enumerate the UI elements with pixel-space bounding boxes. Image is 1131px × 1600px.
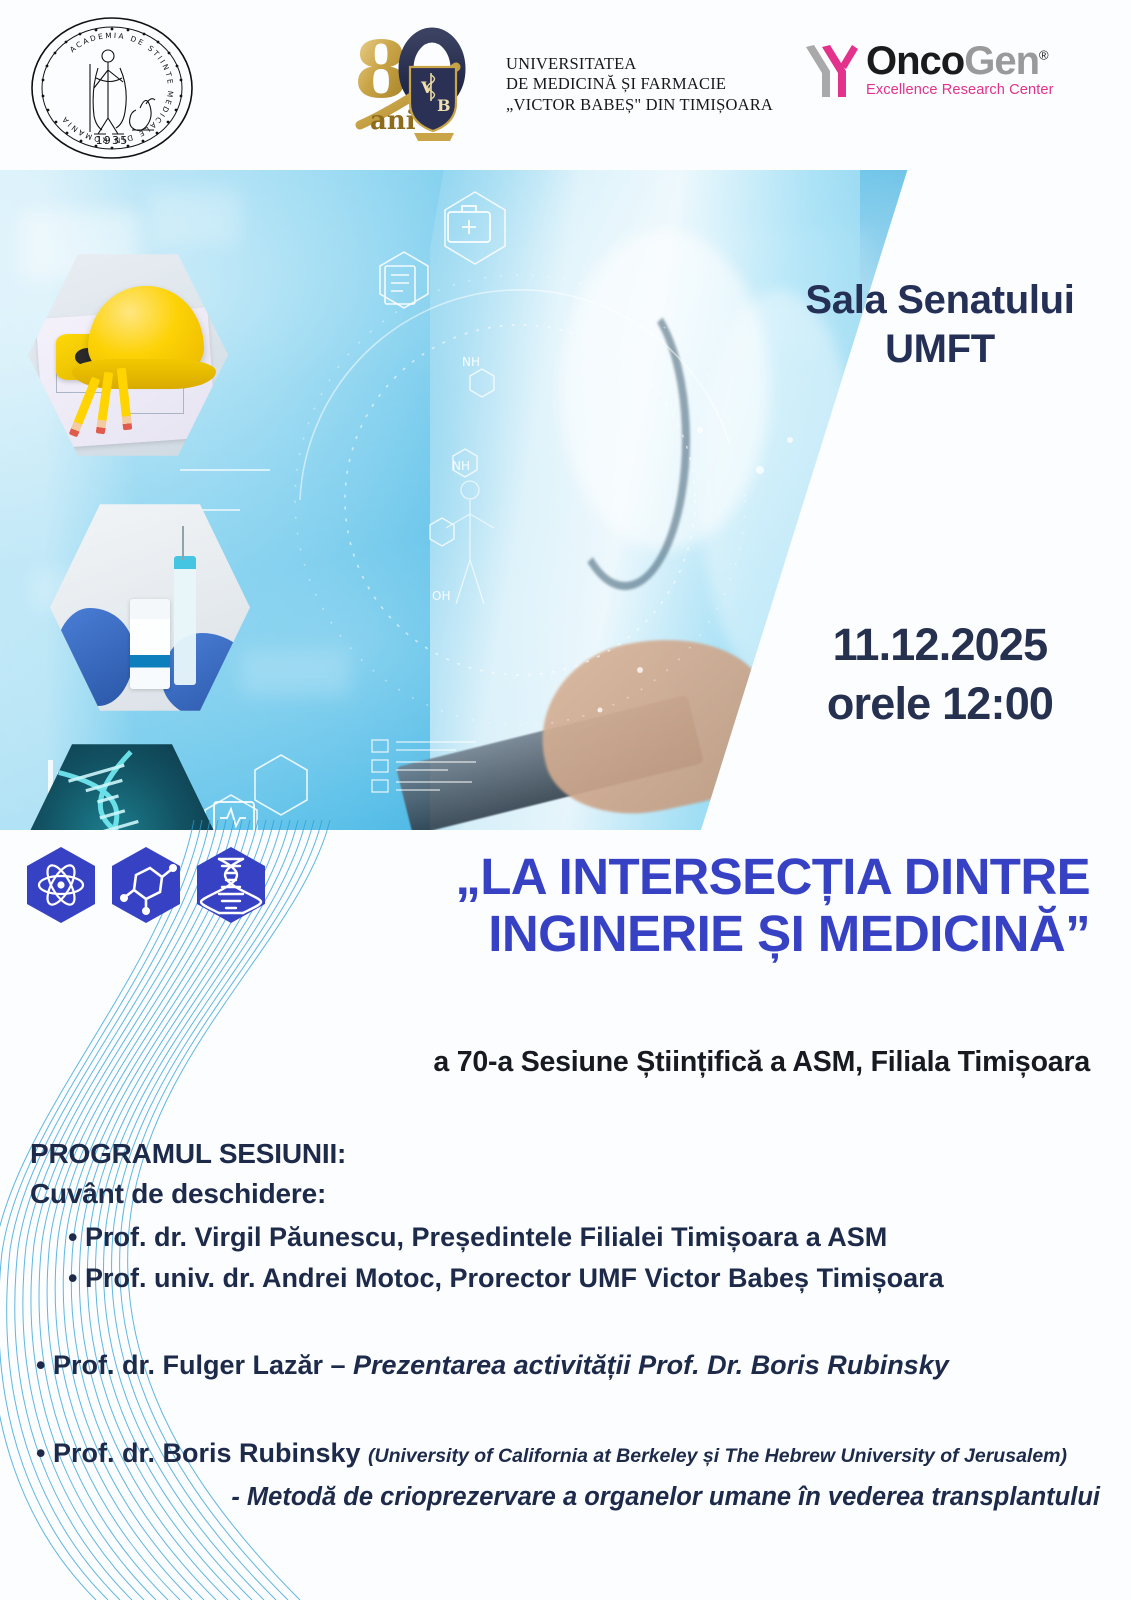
program-bullet-3: • Prof. dr. Fulger Lazăr – Prezentarea a… (36, 1350, 949, 1381)
oncogen-word-onco: Onco (866, 39, 964, 83)
page-title: „LA INTERSECȚIA DINTRE INGINERIE ȘI MEDI… (270, 848, 1090, 962)
program-bullet-3-name: • Prof. dr. Fulger Lazăr – (36, 1350, 353, 1380)
syringe (174, 556, 196, 685)
registered-mark: ® (1039, 48, 1048, 63)
umft-line1: UNIVERSITATEA (506, 54, 773, 74)
program-opening-label: Cuvânt de deschidere: (30, 1178, 326, 1210)
umft-line2: DE MEDICINĂ ȘI FARMACIE (506, 74, 773, 94)
page-subtitle: a 70-a Sesiune Științifică a ASM, Filial… (270, 1046, 1090, 1079)
venue-line-1: Sala Senatului (770, 276, 1110, 325)
umft-line3: „VICTOR BABEȘ" DIN TIMIȘOARA (506, 95, 773, 115)
event-date: 11.12.2025 (770, 616, 1110, 675)
oncogen-tagline: Excellence Research Center (866, 82, 1054, 98)
oncogen-logo: OncoGen® Excellence Research Center (800, 30, 1090, 110)
program-heading: PROGRAMUL SESIUNII: (30, 1138, 346, 1170)
umft-80ani-icon: 8 ani V B (352, 25, 502, 145)
vaccine-vial (130, 599, 170, 689)
bg-blur-shape (240, 650, 350, 696)
venue-text: Sala Senatului UMFT (770, 276, 1110, 374)
syringe-needle (182, 526, 184, 560)
program-bullet-3-italic: Prezentarea activității Prof. Dr. Boris … (353, 1350, 949, 1380)
oncogen-word-gen: Gen (964, 39, 1039, 83)
title-line-1: „LA INTERSECȚIA DINTRE (455, 848, 1090, 905)
title-line-2: INGINERIE ȘI MEDICINĂ” (270, 905, 1090, 962)
oncogen-antibody-icon (800, 39, 862, 101)
svg-text:ani: ani (370, 106, 416, 136)
svg-text:B: B (437, 96, 451, 115)
oncogen-wordmark: OncoGen® (866, 42, 1054, 81)
dna-icon (193, 845, 269, 925)
program-bullet-2: • Prof. univ. dr. Andrei Motoc, Prorecto… (68, 1263, 944, 1294)
logo-bar: ACADEMIA DE STIINTE MEDICALE DIN ROMANIA… (0, 0, 1131, 170)
stethoscope (560, 290, 690, 590)
program-bullet-4: • Prof. dr. Boris Rubinsky (University o… (36, 1438, 1067, 1469)
datetime-text: 11.12.2025 orele 12:00 (770, 616, 1110, 733)
venue-line-2: UMFT (770, 325, 1110, 374)
asm-seal-icon: ACADEMIA DE STIINTE MEDICALE DIN ROMANIA… (28, 16, 196, 161)
program-bullet-4-name: • Prof. dr. Boris Rubinsky (36, 1438, 368, 1468)
bg-blur-shape (150, 190, 240, 245)
asm-seal-year: 1935 (96, 134, 129, 147)
molecule-icon (108, 845, 184, 925)
title-icon-group (23, 845, 273, 925)
program-bullet-5: - Metodă de crioprezervare a organelor u… (0, 1483, 1100, 1512)
umft-logo: 8 ani V B UNIVERSITATEA DE MEDICINĂ ȘI F… (352, 22, 712, 147)
event-time: orele 12:00 (770, 675, 1110, 734)
asm-seal-logo: ACADEMIA DE STIINTE MEDICALE DIN ROMANIA… (28, 16, 196, 161)
program-section: PROGRAMUL SESIUNII: Cuvânt de deschidere… (0, 1138, 1131, 1578)
program-bullet-4-affiliation: (University of California at Berkeley și… (368, 1445, 1067, 1467)
umft-80ani-mark: 8 ani V B (352, 25, 502, 145)
atom-icon (23, 845, 99, 925)
program-bullet-1: • Prof. dr. Virgil Păunescu, Președintel… (68, 1222, 887, 1253)
